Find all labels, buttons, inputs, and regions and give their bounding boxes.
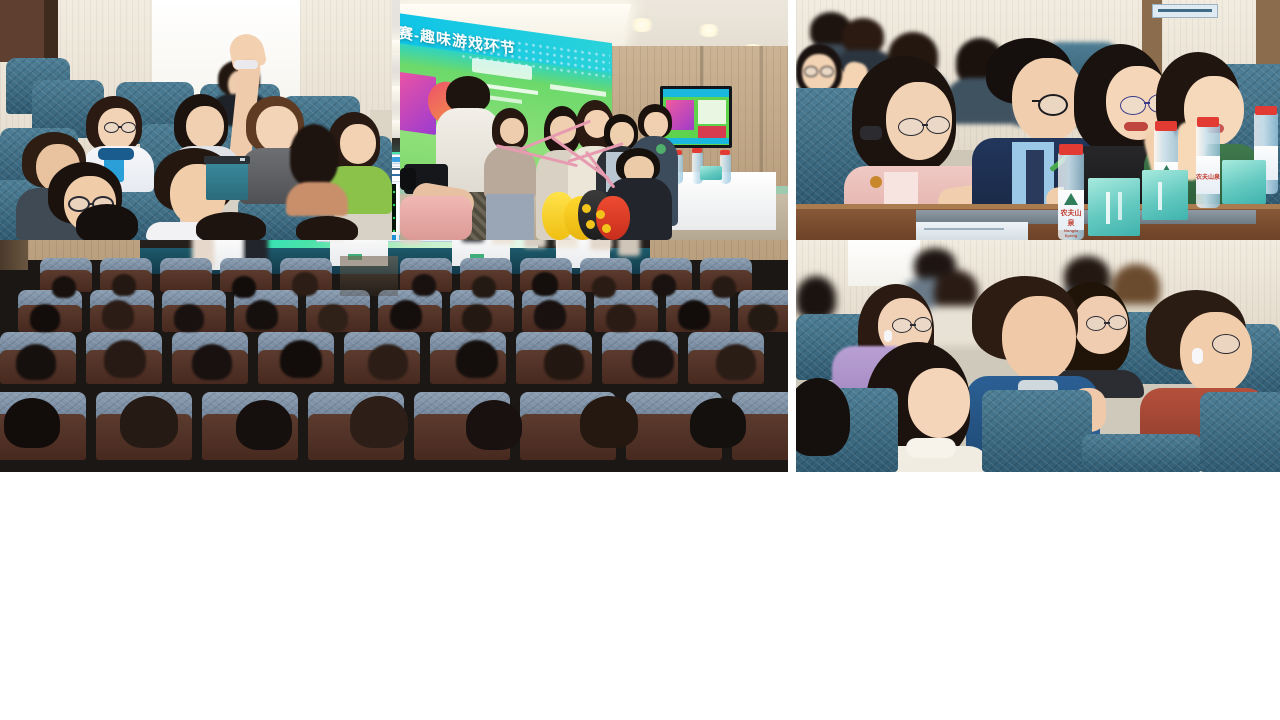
bottle-brand-en: Nongfu Spring [1058, 228, 1084, 238]
bottle-cap [1155, 121, 1177, 131]
camera-lens [400, 168, 416, 190]
placard-text-line [1106, 192, 1110, 224]
downlight [628, 18, 656, 32]
aisle [340, 256, 398, 296]
bottle-cap [1059, 144, 1083, 155]
photo-audience-closeup [796, 238, 1280, 472]
document-line [924, 228, 1004, 230]
bottle-brand-cn: 农夫山泉 [1058, 208, 1084, 228]
wall-trim [44, 0, 58, 66]
balloon-spot [582, 204, 591, 213]
document-paper [916, 222, 1028, 240]
balloon-spot [586, 220, 595, 229]
av-equipment [206, 160, 248, 200]
wall-sign-text [1158, 9, 1212, 12]
foreground-head [76, 204, 138, 240]
name-placard [1222, 160, 1266, 204]
bottle-cap [692, 148, 702, 153]
table-placard [700, 166, 722, 180]
audience-seat [982, 390, 1092, 472]
photo-stage-game-segment: 赛-趣味游戏环节 [400, 0, 788, 240]
audience-seat [1200, 392, 1280, 472]
downlight [696, 24, 722, 37]
placard-text-line [1118, 192, 1122, 220]
name-placard [1142, 170, 1188, 220]
name-placard [1088, 178, 1140, 236]
foreground-head [296, 216, 358, 240]
bottle-label: 农夫山泉 [1196, 156, 1220, 194]
placard-text-line [1158, 182, 1162, 210]
bottle-cap [1255, 106, 1277, 115]
photographer-sleeve [400, 196, 472, 240]
audience-seat [1082, 434, 1202, 472]
photo-audience-raised-hand [0, 0, 392, 240]
bottle-brand-cn: 农夫山泉 [1196, 172, 1220, 181]
photo-judges-panel: 农夫山泉 Nongfu Spring 农夫山泉 [796, 0, 1280, 240]
bottle-cap [1197, 117, 1219, 127]
game-participant [484, 108, 536, 240]
balloon-spot [602, 224, 611, 233]
bottle-cap [720, 150, 730, 155]
side-monitor-topbar [663, 89, 729, 97]
av-equipment-indicator [240, 158, 245, 161]
photo-collage: “欧蒙杯”荧光知 “欧蒙杯”荧光知识竞赛 “欧蒙杯”荧光知 “欧蒙杯”荧光知识竞… [0, 0, 1280, 720]
side-monitor-card [698, 100, 726, 124]
foreground-head [196, 212, 266, 240]
balloon-spot [596, 210, 605, 219]
microscopy-divider [396, 184, 399, 232]
audience-person [286, 124, 348, 216]
